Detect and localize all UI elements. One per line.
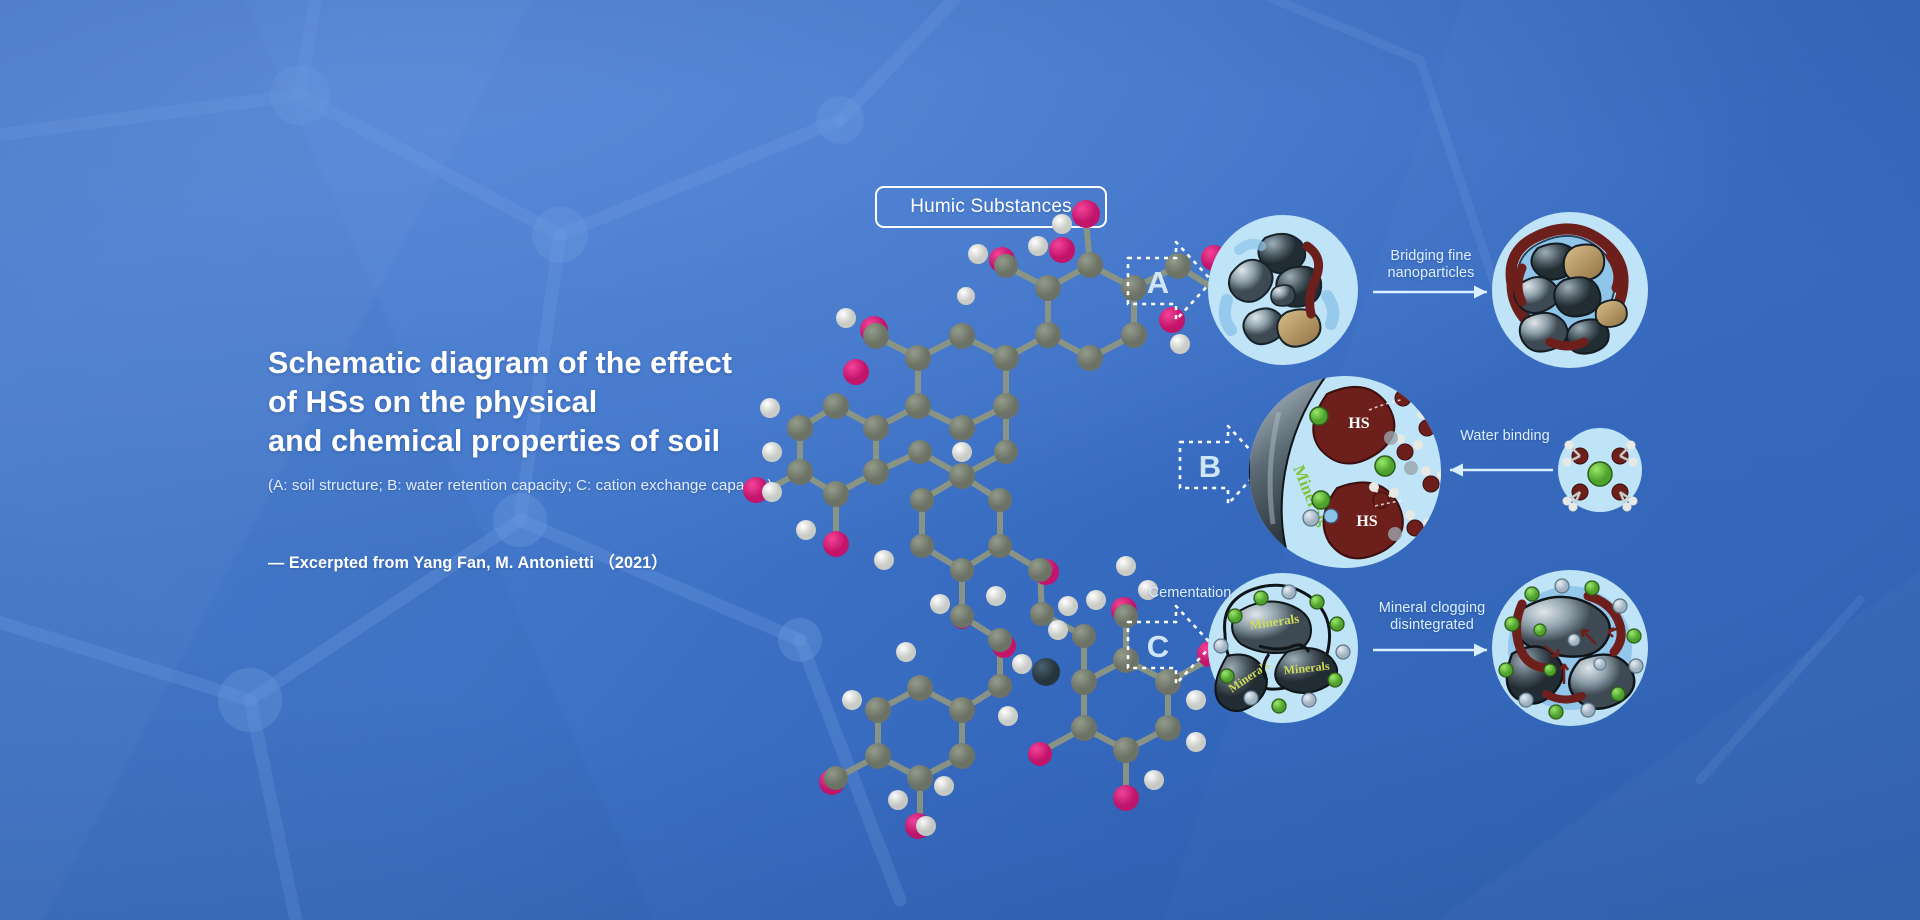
row-c-flow-label: Mineral clogging disintegrated bbox=[1358, 600, 1506, 634]
row-a-flow-label: Bridging fine nanoparticles bbox=[1361, 248, 1501, 282]
row-b-hs-label-1: HS bbox=[1348, 415, 1369, 432]
row-c-pre-label-text: Cementation bbox=[1130, 585, 1250, 602]
heteroatom bbox=[1032, 658, 1060, 686]
row-c-letter: C bbox=[1147, 629, 1169, 664]
carbon-atoms bbox=[787, 252, 1191, 791]
row-c-flow-label-line-1: Mineral clogging bbox=[1358, 600, 1506, 617]
row-b-flow-label: Water binding bbox=[1440, 428, 1570, 445]
row-a: A bbox=[1128, 212, 1648, 368]
row-b-result-circle bbox=[1558, 428, 1642, 512]
row-a-source-circle bbox=[1208, 215, 1358, 365]
row-b-letter: B bbox=[1199, 449, 1221, 484]
row-a-result-circle bbox=[1492, 212, 1648, 368]
row-b-flow-label-line-1: Water binding bbox=[1440, 428, 1570, 445]
row-c-pre-label: Cementation bbox=[1130, 585, 1250, 602]
row-b: B Minerals HS HS bbox=[1180, 372, 1642, 576]
row-a-flow-label-line-1: Bridging fine bbox=[1361, 248, 1501, 265]
diagram-layer: A bbox=[0, 0, 1920, 920]
row-c-flow-arrow bbox=[1373, 644, 1487, 657]
row-b-flow-arrow bbox=[1450, 464, 1553, 477]
row-a-flow-arrow bbox=[1373, 286, 1487, 299]
infographic-canvas: Schematic diagram of the effect of HSs o… bbox=[0, 0, 1920, 920]
row-c-flow-label-line-2: disintegrated bbox=[1358, 617, 1506, 634]
row-a-letter: A bbox=[1147, 265, 1169, 300]
row-b-hs-label-2: HS bbox=[1356, 513, 1377, 530]
row-b-source-circle: Minerals HS HS bbox=[1249, 372, 1447, 576]
row-a-flow-label-line-2: nanoparticles bbox=[1361, 265, 1501, 282]
row-c-result-circle bbox=[1492, 570, 1648, 726]
humic-substance-molecule bbox=[743, 200, 1248, 839]
